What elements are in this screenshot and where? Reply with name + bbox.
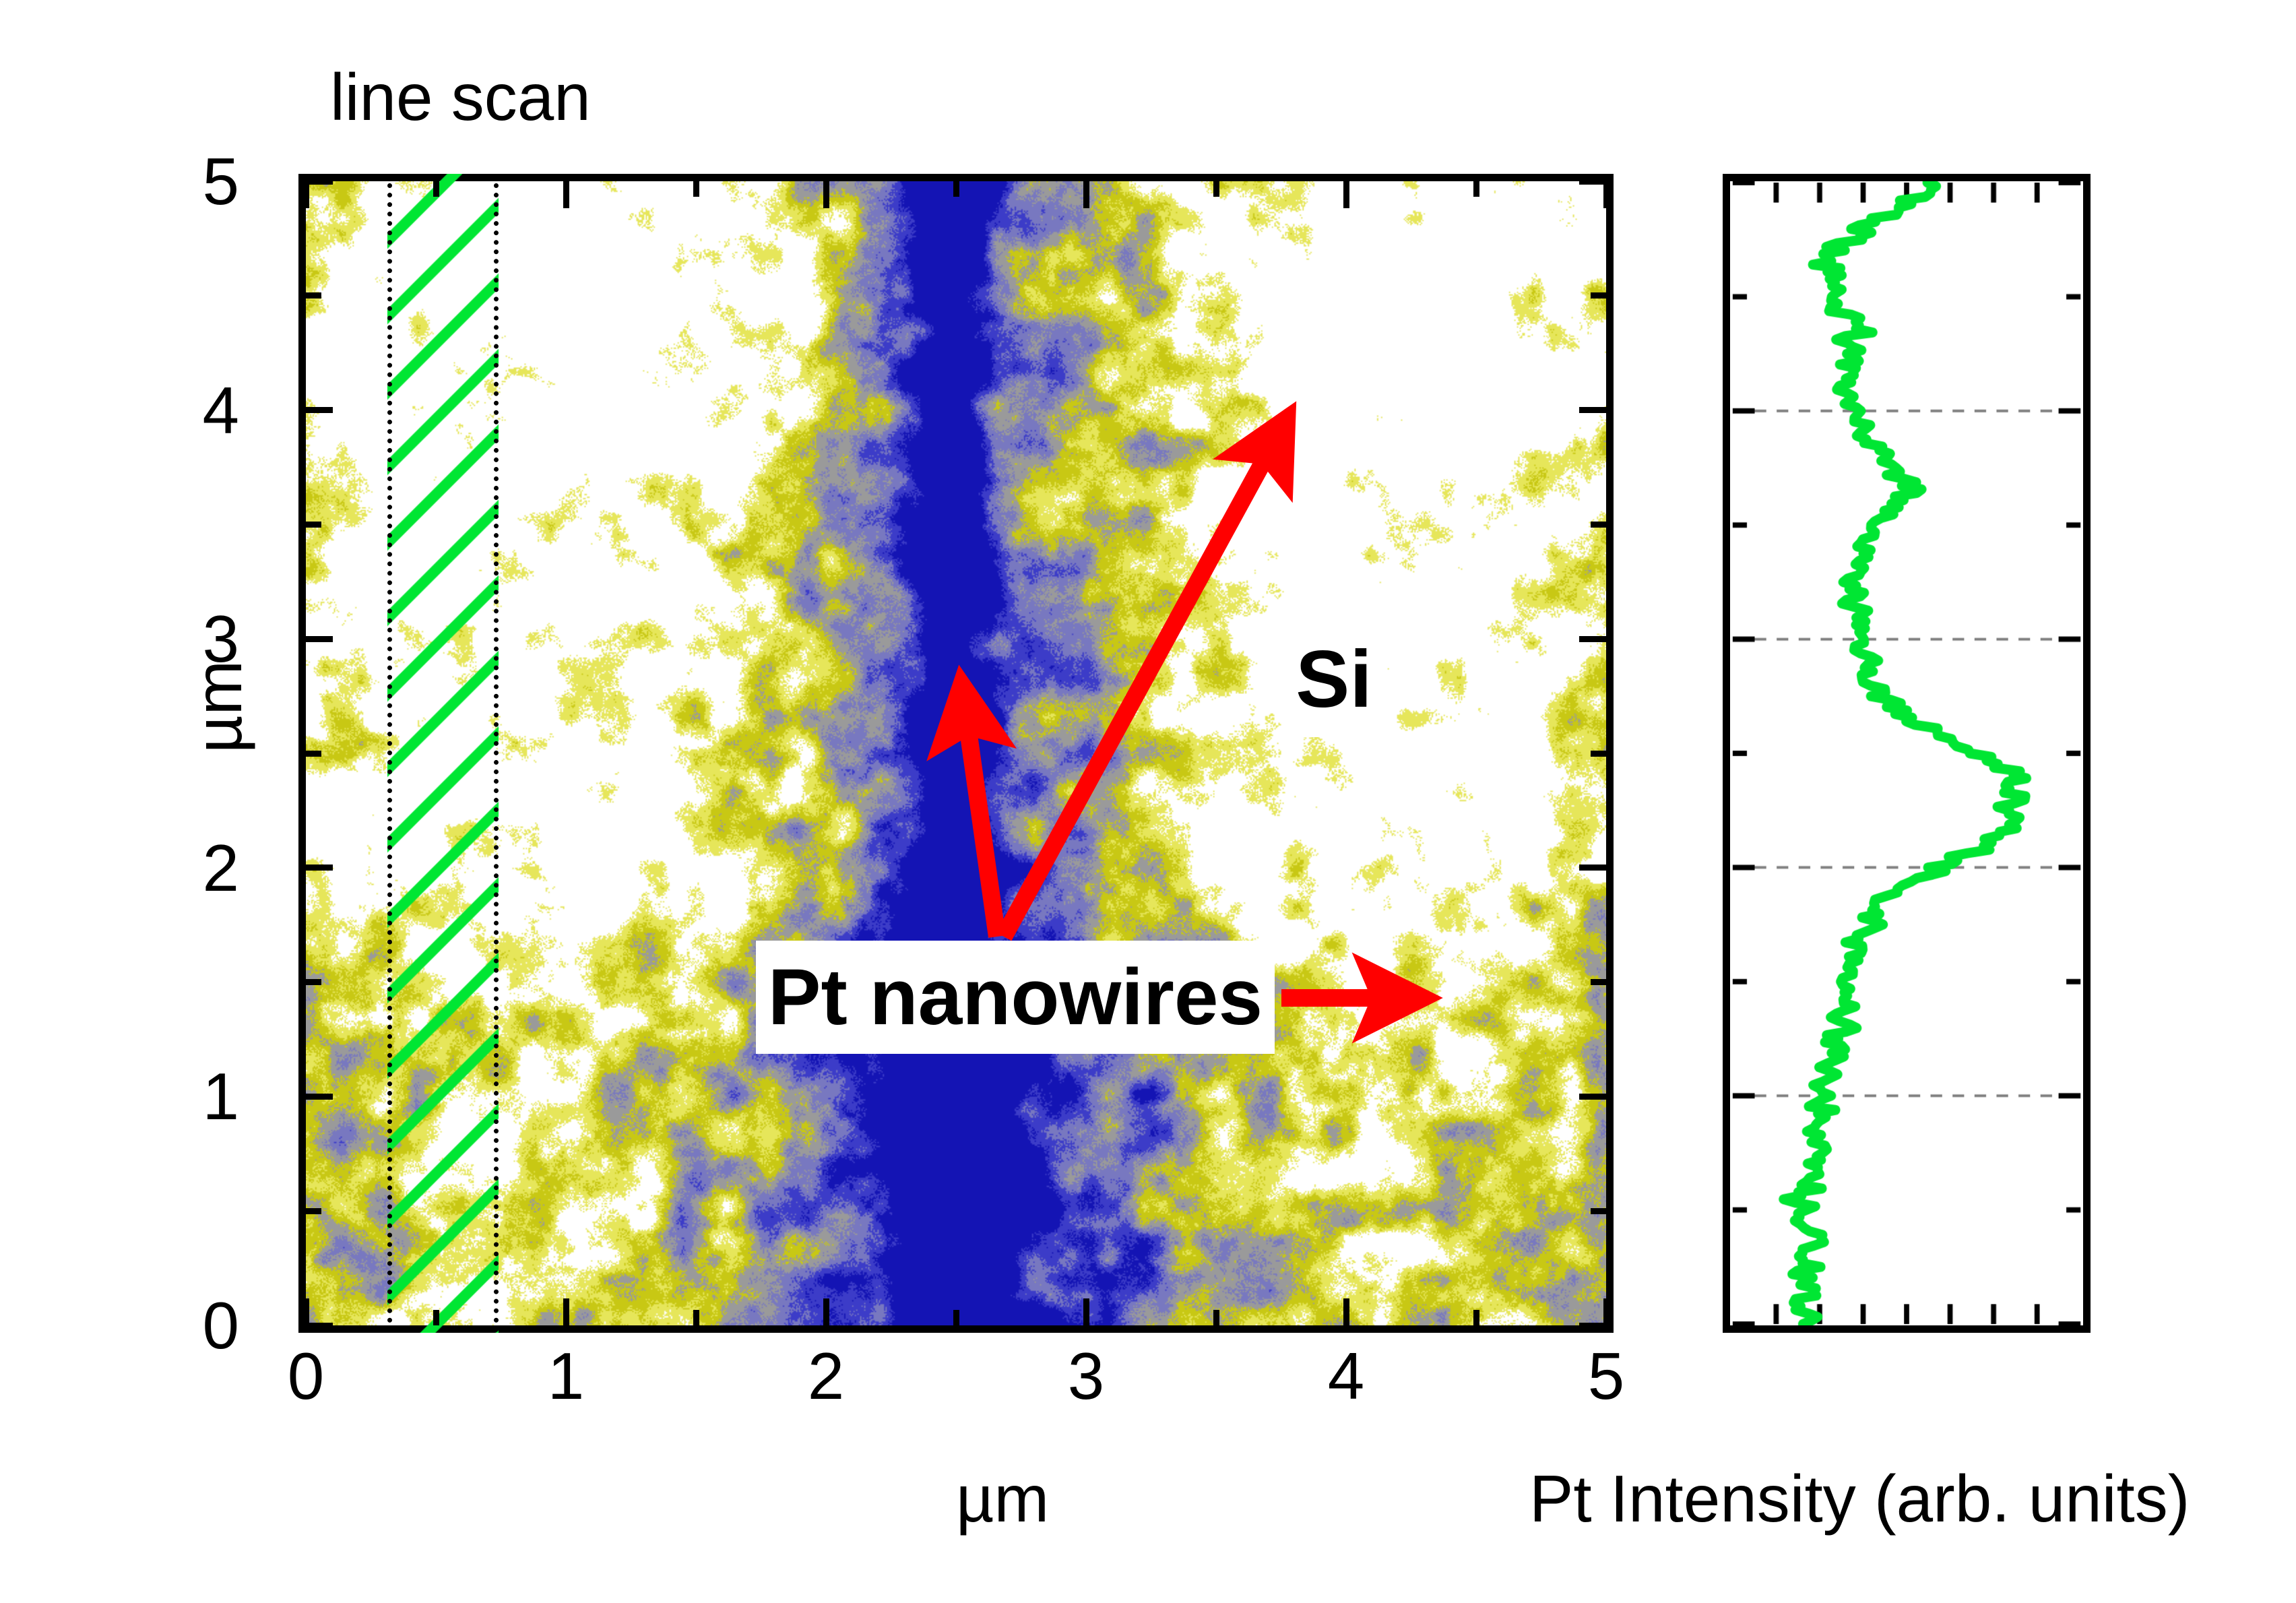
map-x-tick (563, 1298, 569, 1325)
map-y-tick (306, 1323, 333, 1329)
map-y-tick (306, 636, 333, 642)
line-scan-right-edge (494, 174, 499, 1333)
map-x-tick (1603, 181, 1609, 208)
map-y-tick (306, 865, 333, 871)
pt-intensity-axis-title: Pt Intensity (arb. units) (1529, 1461, 2190, 1537)
map-x-tick (693, 1310, 699, 1325)
pt-intensity-trace (1730, 181, 2083, 1325)
map-x-tick (1343, 1298, 1349, 1325)
map-y-tick (306, 1094, 333, 1100)
map-y-tick (1579, 865, 1606, 871)
map-x-tick (433, 1310, 439, 1325)
map-y-tick (1579, 1323, 1606, 1329)
map-x-tick (823, 181, 829, 208)
map-x-tick (303, 1298, 309, 1325)
map-x-tick (563, 181, 569, 208)
map-y-tick (1591, 979, 1606, 985)
map-x-tick (953, 181, 959, 197)
map-y-tick (1579, 1094, 1606, 1100)
map-x-tick (1343, 181, 1349, 208)
map-y-tick-label: 0 (202, 1292, 239, 1358)
pt-intensity-panel (1723, 174, 2091, 1333)
map-y-tick-label: 2 (202, 835, 239, 901)
map-x-tick (823, 1298, 829, 1325)
map-x-tick (303, 181, 309, 208)
map-y-tick-label: 4 (202, 377, 239, 443)
map-y-tick (306, 179, 333, 185)
map-x-tick (953, 1310, 959, 1325)
map-y-tick (306, 1208, 321, 1214)
map-y-tick (306, 522, 321, 528)
map-x-tick (1603, 1298, 1609, 1325)
map-x-tick (1083, 1298, 1089, 1325)
map-y-tick (1579, 179, 1606, 185)
map-x-tick (693, 181, 699, 197)
line-scan-hatch (387, 174, 499, 1333)
figure-root: line scan 012345012345 µm µm Si Pt nanow… (0, 0, 2296, 1603)
map-x-tick-label: 4 (1328, 1343, 1365, 1409)
label-si: Si (1283, 621, 1384, 737)
map-y-tick (1579, 407, 1606, 413)
map-x-tick (1473, 181, 1479, 197)
map-x-tick-label: 2 (808, 1343, 845, 1409)
map-x-tick (1083, 181, 1089, 208)
line-scan-left-edge (387, 174, 392, 1333)
map-x-tick (1473, 1310, 1479, 1325)
map-y-axis-title: µm (181, 660, 257, 753)
map-y-tick (1591, 751, 1606, 757)
map-y-tick (1591, 292, 1606, 298)
map-x-tick-label: 5 (1588, 1343, 1625, 1409)
map-x-tick-label: 0 (288, 1343, 325, 1409)
map-y-tick (306, 292, 321, 298)
label-pt-nanowires: Pt nanowires (756, 941, 1275, 1054)
map-y-tick (1579, 636, 1606, 642)
map-y-tick (1591, 1208, 1606, 1214)
line-scan-caption: line scan (330, 59, 591, 135)
map-x-tick (433, 181, 439, 197)
map-y-tick (306, 751, 321, 757)
map-y-tick (306, 979, 321, 985)
line-scan-region (387, 174, 499, 1333)
map-y-tick-label: 5 (202, 148, 239, 214)
map-x-tick-label: 1 (548, 1343, 585, 1409)
map-y-tick (306, 407, 333, 413)
map-x-tick (1213, 181, 1219, 197)
map-x-axis-title: µm (956, 1461, 1049, 1537)
map-y-tick-label: 1 (202, 1063, 239, 1129)
edx-map-image (306, 181, 1606, 1325)
map-y-tick (1591, 522, 1606, 528)
map-x-tick (1213, 1310, 1219, 1325)
map-x-tick-label: 3 (1068, 1343, 1105, 1409)
